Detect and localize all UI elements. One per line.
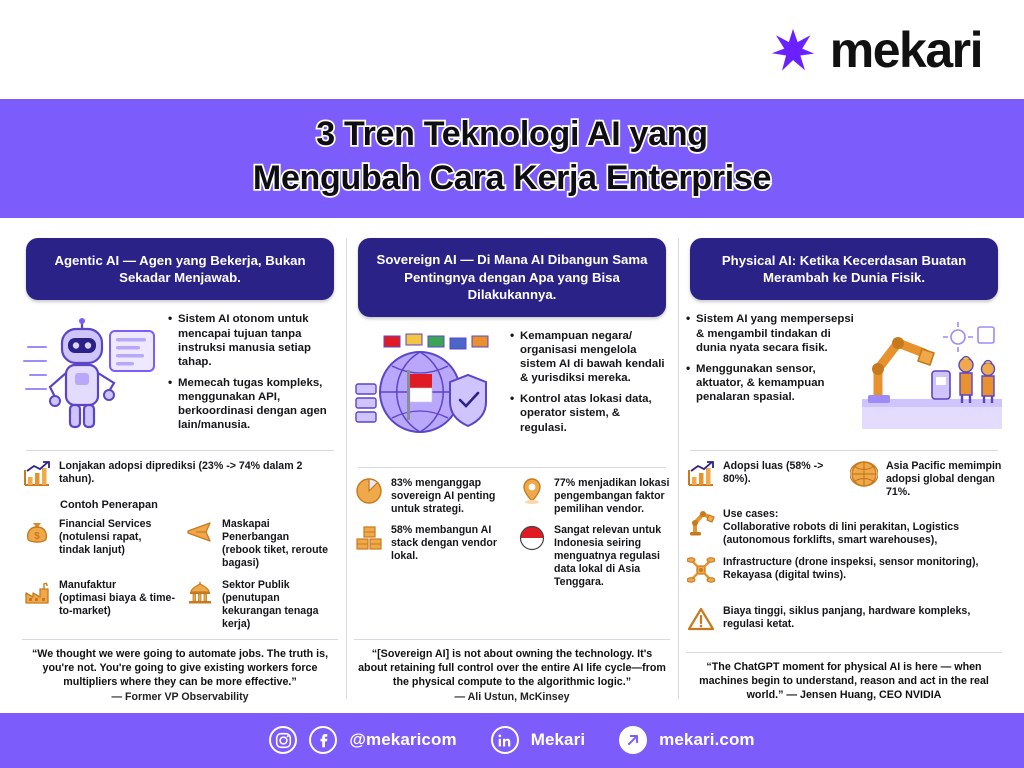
pie-chart-icon xyxy=(354,476,384,506)
stat-text: Lonjakan adopsi diprediksi (23% -> 74% d… xyxy=(59,459,338,486)
quote-block: “We thought we were going to automate jo… xyxy=(22,639,338,713)
divider xyxy=(690,450,998,451)
illustration-and-bullets: Sistem AI yang mempersepsi & mengambil t… xyxy=(686,310,1002,442)
usecase-robots: Use cases: Collaborative robots di lini … xyxy=(686,507,1002,547)
globe-flags-shield-illustration xyxy=(354,327,504,459)
quote-source: — Former VP Observability xyxy=(24,691,336,703)
column-heading: Agentic AI — Agen yang Bekerja, Bukan Se… xyxy=(26,238,334,300)
stat-sovereign-importance: 83% menganggap sovereign AI penting untu… xyxy=(354,476,507,516)
usecase-label: Use cases: xyxy=(723,508,778,520)
bullet-item: Sistem AI otonom untuk mencapai tujuan t… xyxy=(168,312,338,369)
example-text: Manufaktur (optimasi biaya & time-to-mar… xyxy=(59,578,175,618)
page-header: mekari xyxy=(0,0,1024,99)
page-title-line-2: Mengubah Cara Kerja Enterprise xyxy=(253,157,771,201)
usecase-infrastructure: Infrastructure (drone inspeksi, sensor m… xyxy=(686,555,1002,595)
stat-location-factor: 77% menjadikan lokasi pengembangan fakto… xyxy=(517,476,670,516)
robot-arm-factory-illustration xyxy=(862,310,1002,442)
page-footer: @mekaricom Mekari mekari.com xyxy=(0,713,1024,768)
illustration-and-bullets: Sistem AI otonom untuk mencapai tujuan t… xyxy=(22,310,338,442)
title-banner: 3 Tren Teknologi AI yang Mengubah Cara K… xyxy=(0,99,1024,218)
stat-local-vendor: 58% membangun AI stack dengan vendor lok… xyxy=(354,523,507,589)
quote-source: — Ali Ustun, McKinsey xyxy=(356,691,668,703)
quote-block: “[Sovereign AI] is not about owning the … xyxy=(354,639,670,713)
stats-row-1: 83% menganggap sovereign AI penting untu… xyxy=(354,476,670,524)
stat-text: Asia Pacific memimpin adopsi global deng… xyxy=(886,459,1002,499)
column-agentic-ai: Agentic AI — Agen yang Bekerja, Bukan Se… xyxy=(14,228,346,712)
page-title-line-1: 3 Tren Teknologi AI yang xyxy=(316,113,707,157)
stat-text: Sangat relevan untuk Indonesia seiring m… xyxy=(554,523,670,589)
indonesia-flag-icon xyxy=(517,523,547,553)
example-financial-services: $ Financial Services (notulensi rapat, t… xyxy=(22,517,175,570)
example-detail: (penutupan kekurangan tenaga kerja) xyxy=(222,592,319,630)
divider xyxy=(26,450,334,451)
stat-text: Adopsi luas (58% -> 80%). xyxy=(723,459,839,486)
example-title: Sektor Publik xyxy=(222,579,290,591)
usecase-text: Use cases: Collaborative robots di lini … xyxy=(723,507,1002,547)
bullet-item: Sistem AI yang mempersepsi & mengambil t… xyxy=(686,312,856,354)
money-bag-icon: $ xyxy=(22,517,52,547)
instagram-icon[interactable] xyxy=(269,726,297,754)
example-airline: Maskapai Penerbangan (rebook tiket, rero… xyxy=(185,517,338,570)
usecase-text: Biaya tinggi, siklus panjang, hardware k… xyxy=(723,604,1002,631)
bar-chart-growth-icon xyxy=(22,459,52,489)
columns-container: Agentic AI — Agen yang Bekerja, Bukan Se… xyxy=(0,218,1024,712)
example-manufacturing: Manufaktur (optimasi biaya & time-to-mar… xyxy=(22,578,175,631)
mekari-wordmark: mekari xyxy=(830,25,982,75)
example-text: Sektor Publik (penutupan kekurangan tena… xyxy=(222,578,338,631)
column-bullets: Sistem AI otonom untuk mencapai tujuan t… xyxy=(168,310,338,442)
column-sovereign-ai: Sovereign AI — Di Mana AI Dibangun Sama … xyxy=(346,228,678,712)
stat-text: 83% menganggap sovereign AI penting untu… xyxy=(391,476,507,516)
column-heading: Sovereign AI — Di Mana AI Dibangun Sama … xyxy=(358,238,666,316)
government-building-icon xyxy=(185,578,215,608)
factory-icon xyxy=(22,578,52,608)
linkedin-icon[interactable] xyxy=(491,726,519,754)
example-text: Maskapai Penerbangan (rebook tiket, rero… xyxy=(222,517,338,570)
example-public-sector: Sektor Publik (penutupan kekurangan tena… xyxy=(185,578,338,631)
examples-row-1: $ Financial Services (notulensi rapat, t… xyxy=(22,517,338,578)
robot-arm-icon xyxy=(686,507,716,537)
airplane-icon xyxy=(185,517,215,547)
bullet-item: Memecah tugas kompleks, menggunakan API,… xyxy=(168,376,338,433)
linkedin-label[interactable]: Mekari xyxy=(531,730,585,750)
example-title: Manufaktur xyxy=(59,579,116,591)
social-handle[interactable]: @mekaricom xyxy=(349,730,456,750)
column-bullets: Sistem AI yang mempersepsi & mengambil t… xyxy=(686,310,856,442)
example-title: Maskapai Penerbangan xyxy=(222,518,289,543)
stats-row-2: 58% membangun AI stack dengan vendor lok… xyxy=(354,523,670,597)
stat-indonesia-relevance: Sangat relevan untuk Indonesia seiring m… xyxy=(517,523,670,589)
facebook-icon[interactable] xyxy=(309,726,337,754)
divider xyxy=(358,467,666,468)
usecase-detail: Collaborative robots di lini perakitan, … xyxy=(723,521,959,546)
infographic-page: mekari 3 Tren Teknologi AI yang Mengubah… xyxy=(0,0,1024,768)
quote-text: “[Sovereign AI] is not about owning the … xyxy=(356,648,668,690)
column-heading: Physical AI: Ketika Kecerdasan Buatan Me… xyxy=(690,238,998,300)
examples-row-2: Manufaktur (optimasi biaya & time-to-mar… xyxy=(22,578,338,639)
website-label[interactable]: mekari.com xyxy=(659,730,755,750)
illustration-and-bullets: Kemampuan negara/ organisasi mengelola s… xyxy=(354,327,670,459)
quote-text: “The ChatGPT moment for physical AI is h… xyxy=(688,661,1000,703)
globe-grid-icon xyxy=(849,459,879,489)
boxes-stack-icon xyxy=(354,523,384,553)
warning-triangle-icon xyxy=(686,604,716,634)
stat-text: 58% membangun AI stack dengan vendor lok… xyxy=(391,523,507,563)
stat-text: 77% menjadikan lokasi pengembangan fakto… xyxy=(554,476,670,516)
example-title: Financial Services xyxy=(59,518,151,530)
stat-apac-leading: Asia Pacific memimpin adopsi global deng… xyxy=(849,459,1002,499)
column-bullets: Kemampuan negara/ organisasi mengelola s… xyxy=(510,327,670,459)
bullet-item: Kontrol atas lokasi data, operator siste… xyxy=(510,392,670,434)
examples-subheading: Contoh Penerapan xyxy=(60,499,338,511)
bullet-item: Kemampuan negara/ organisasi mengelola s… xyxy=(510,329,670,386)
example-detail: (optimasi biaya & time-to-market) xyxy=(59,592,175,617)
robot-assistant-illustration xyxy=(22,310,162,442)
stat-broad-adoption: Adopsi luas (58% -> 80%). xyxy=(686,459,839,499)
stat-adoption: Lonjakan adopsi diprediksi (23% -> 74% d… xyxy=(22,459,338,489)
quote-text: “We thought we were going to automate jo… xyxy=(24,648,336,690)
example-text: Financial Services (notulensi rapat, tin… xyxy=(59,517,175,557)
stats-row-1: Adopsi luas (58% -> 80%). As xyxy=(686,459,1002,507)
mekari-logo: mekari xyxy=(770,25,982,75)
example-detail: (notulensi rapat, tindak lanjut) xyxy=(59,531,141,556)
drone-icon xyxy=(686,555,716,585)
location-pin-icon xyxy=(517,476,547,506)
svg-text:$: $ xyxy=(34,531,40,542)
usecase-challenges: Biaya tinggi, siklus panjang, hardware k… xyxy=(686,604,1002,644)
example-detail: (rebook tiket, reroute bagasi) xyxy=(222,544,328,569)
mekari-star-icon xyxy=(770,27,816,73)
column-physical-ai: Physical AI: Ketika Kecerdasan Buatan Me… xyxy=(678,228,1010,712)
usecase-text: Infrastructure (drone inspeksi, sensor m… xyxy=(723,555,1002,582)
bullet-item: Menggunakan sensor, aktuator, & kemampua… xyxy=(686,362,856,404)
quote-block: “The ChatGPT moment for physical AI is h… xyxy=(686,652,1002,713)
arrow-link-icon[interactable] xyxy=(619,726,647,754)
bar-chart-growth-icon xyxy=(686,459,716,489)
